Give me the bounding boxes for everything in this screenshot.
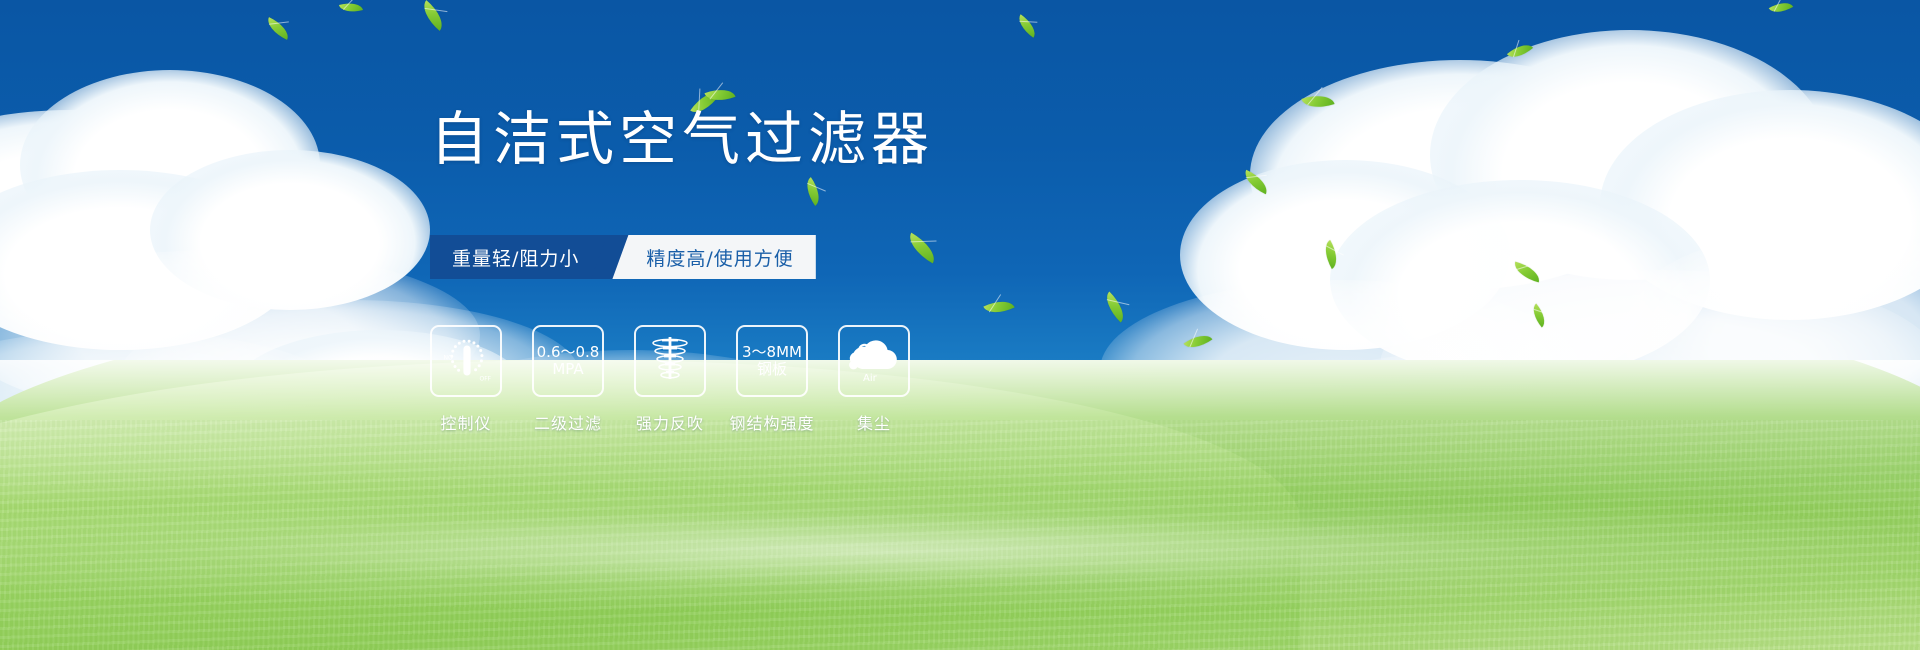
feature-item-reverse-blow[interactable]: 强力反吹 [634,325,706,434]
feature-item-dust-collection[interactable]: Air 集尘 [838,325,910,434]
feature-label: 二级过滤 [534,410,602,434]
badge-high-precision-easy-use: 精度高/使用方便 [612,235,815,279]
feature-label: 控制仪 [440,410,491,434]
svg-text:OFF: OFF [480,376,492,383]
feature-box-line1: 3～8MM [742,344,802,361]
svg-text:NO: NO [444,355,453,362]
feature-item-secondary-filter[interactable]: 0.6～0.8 MPA 二级过滤 [532,325,604,434]
feature-item-controller[interactable]: NO OFF 控制仪 [430,325,502,434]
air-label: Air [863,373,878,383]
feature-label: 强力反吹 [636,410,704,434]
feature-icon-box: NO OFF [430,325,502,397]
feature-icon-box [634,325,706,397]
badge-label: 重量轻/阻力小 [452,244,579,271]
feature-icon-box: 3～8MM 钢板 [736,325,808,397]
subtitle-badge-group: 重量轻/阻力小 精度高/使用方便 [430,235,816,279]
page-title: 自洁式空气过滤器 [430,110,934,168]
badge-label: 精度高/使用方便 [646,244,793,271]
hero-banner: 自洁式空气过滤器 重量轻/阻力小 精度高/使用方便 [0,0,1920,650]
feature-item-steel-strength[interactable]: 3～8MM 钢板 钢结构强度 [736,325,808,434]
feature-box-line2: 钢板 [757,361,787,378]
badge-lightweight-low-resistance: 重量轻/阻力小 [430,235,613,279]
feature-label: 钢结构强度 [730,410,815,434]
feature-box-line1: 0.6～0.8 [537,344,600,361]
feature-label: 集尘 [857,410,891,434]
feature-icon-box: 0.6～0.8 MPA [532,325,604,397]
reverse-blow-icon [643,335,697,387]
feature-icon-box: Air [838,325,910,397]
feature-box-line2: MPA [552,361,583,378]
air-cloud-icon: Air [845,339,903,383]
gauge-dial-icon: NO OFF [438,335,494,387]
feature-icon-row: NO OFF 控制仪 0.6～0.8 MPA 二级过滤 [430,325,910,434]
